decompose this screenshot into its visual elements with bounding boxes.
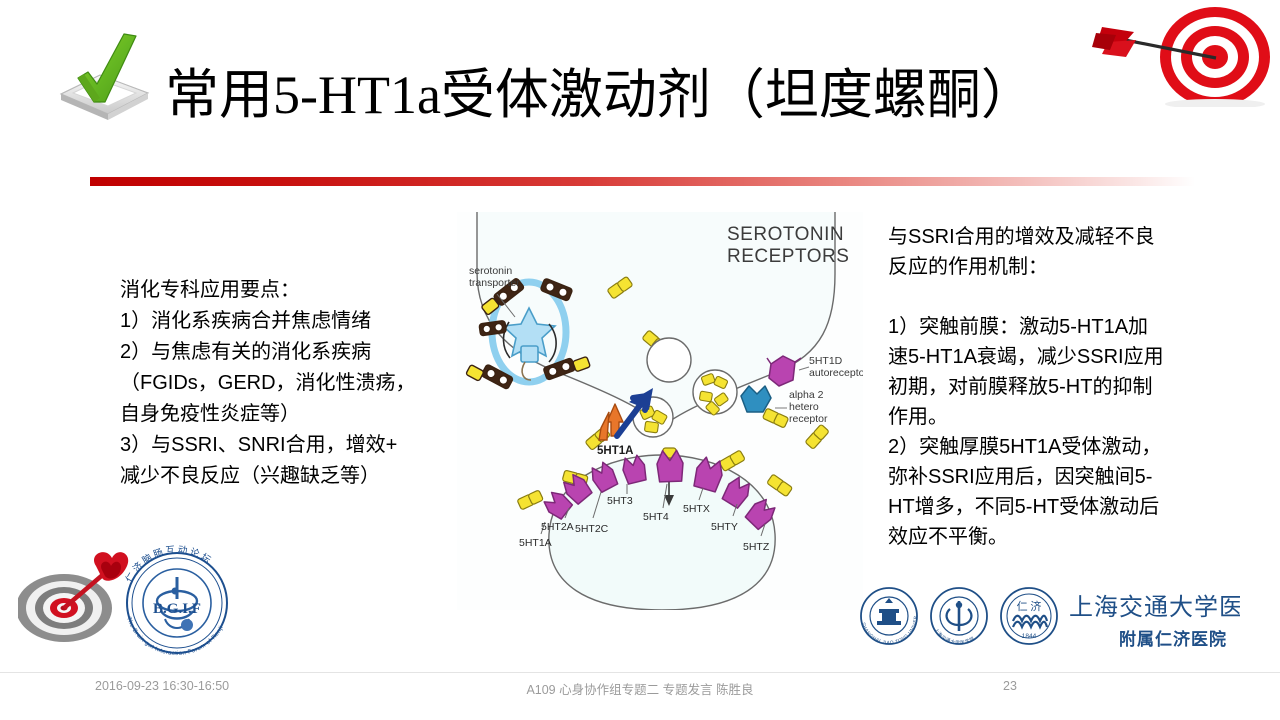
left-body-text: 消化专科应用要点： 1）消化系疾病合并焦虑情绪 2）与焦虑有关的消化系疾病 （F…: [120, 275, 450, 492]
diagram-label-alpha2-line3: receptor: [789, 413, 828, 425]
diagram-receptor-label-5: 5HTX: [683, 503, 710, 515]
diagram-label-presynaptic-5ht1a: 5HT1A: [597, 445, 633, 457]
footer-page-number: 23: [370, 679, 1280, 693]
diagram-label-alpha2-line2: hetero: [789, 401, 819, 413]
diagram-label-5ht1d-line2: autoreceptor: [809, 367, 863, 379]
accent-divider-bar: [90, 177, 1195, 186]
diagram-receptor-label-4: 5HT4: [643, 511, 669, 523]
seal-renji: 仁 济 1844: [1001, 588, 1057, 644]
institution-name-line2: 附属仁济医院: [1119, 629, 1227, 649]
footer-divider: [0, 672, 1280, 673]
green-checkmark-box-icon: [48, 22, 158, 122]
seal-medical-school: 上海交通大学医学院: [931, 588, 987, 646]
diagram-label-transporter-line1: serotonin: [469, 265, 512, 277]
institution-name-line1: 上海交通大学医学院: [1069, 594, 1240, 621]
diagram-receptor-label-6: 5HTY: [711, 521, 738, 533]
diagram-receptor-label-7: 5HTZ: [743, 541, 770, 553]
bgif-logo: B.G.I.F 仁济脑肠互动论坛 The Brain-gut Interacti…: [113, 541, 241, 661]
seal-sjtu: SHANGHAI JIAO TONG UNIVERSITY: [855, 583, 918, 645]
institution-logos: SHANGHAI JIAO TONG UNIVERSITY 上海交通大学医学院 …: [855, 583, 1240, 657]
page-title: 常用5-HT1a受体激动剂（坦度螺酮）: [165, 62, 1145, 128]
diagram-label-5ht1d-line1: 5HT1D: [809, 355, 843, 367]
diagram-receptor-label-3: 5HT3: [607, 495, 633, 507]
diagram-receptor-label-1: 5HT2A: [541, 521, 574, 533]
diagram-label-alpha2-line1: alpha 2: [789, 389, 824, 401]
diagram-heading-line1: SEROTONIN: [727, 224, 844, 245]
slide-canvas: 常用5-HT1a受体激动剂（坦度螺酮） 消化专科应用要点： 1）消化系疾病合并焦…: [0, 0, 1280, 720]
serotonin-receptors-diagram: serotonin transporter: [457, 212, 863, 610]
right-body-text: 与SSRI合用的增效及减轻不良 反应的作用机制： 1）突触前膜：激动5-HT1A…: [888, 222, 1208, 552]
seal-renji-name: 仁 济: [1017, 599, 1042, 613]
diagram-receptor-label-2: 5HT2C: [575, 523, 609, 535]
diagram-heading-line2: RECEPTORS: [727, 246, 849, 267]
diagram-receptor-label-0: 5HT1A: [519, 537, 552, 549]
bgif-acronym: B.G.I.F: [153, 601, 201, 617]
diagram-label-transporter-line2: transporter: [469, 277, 520, 289]
seal-renji-year: 1844: [1022, 633, 1037, 640]
